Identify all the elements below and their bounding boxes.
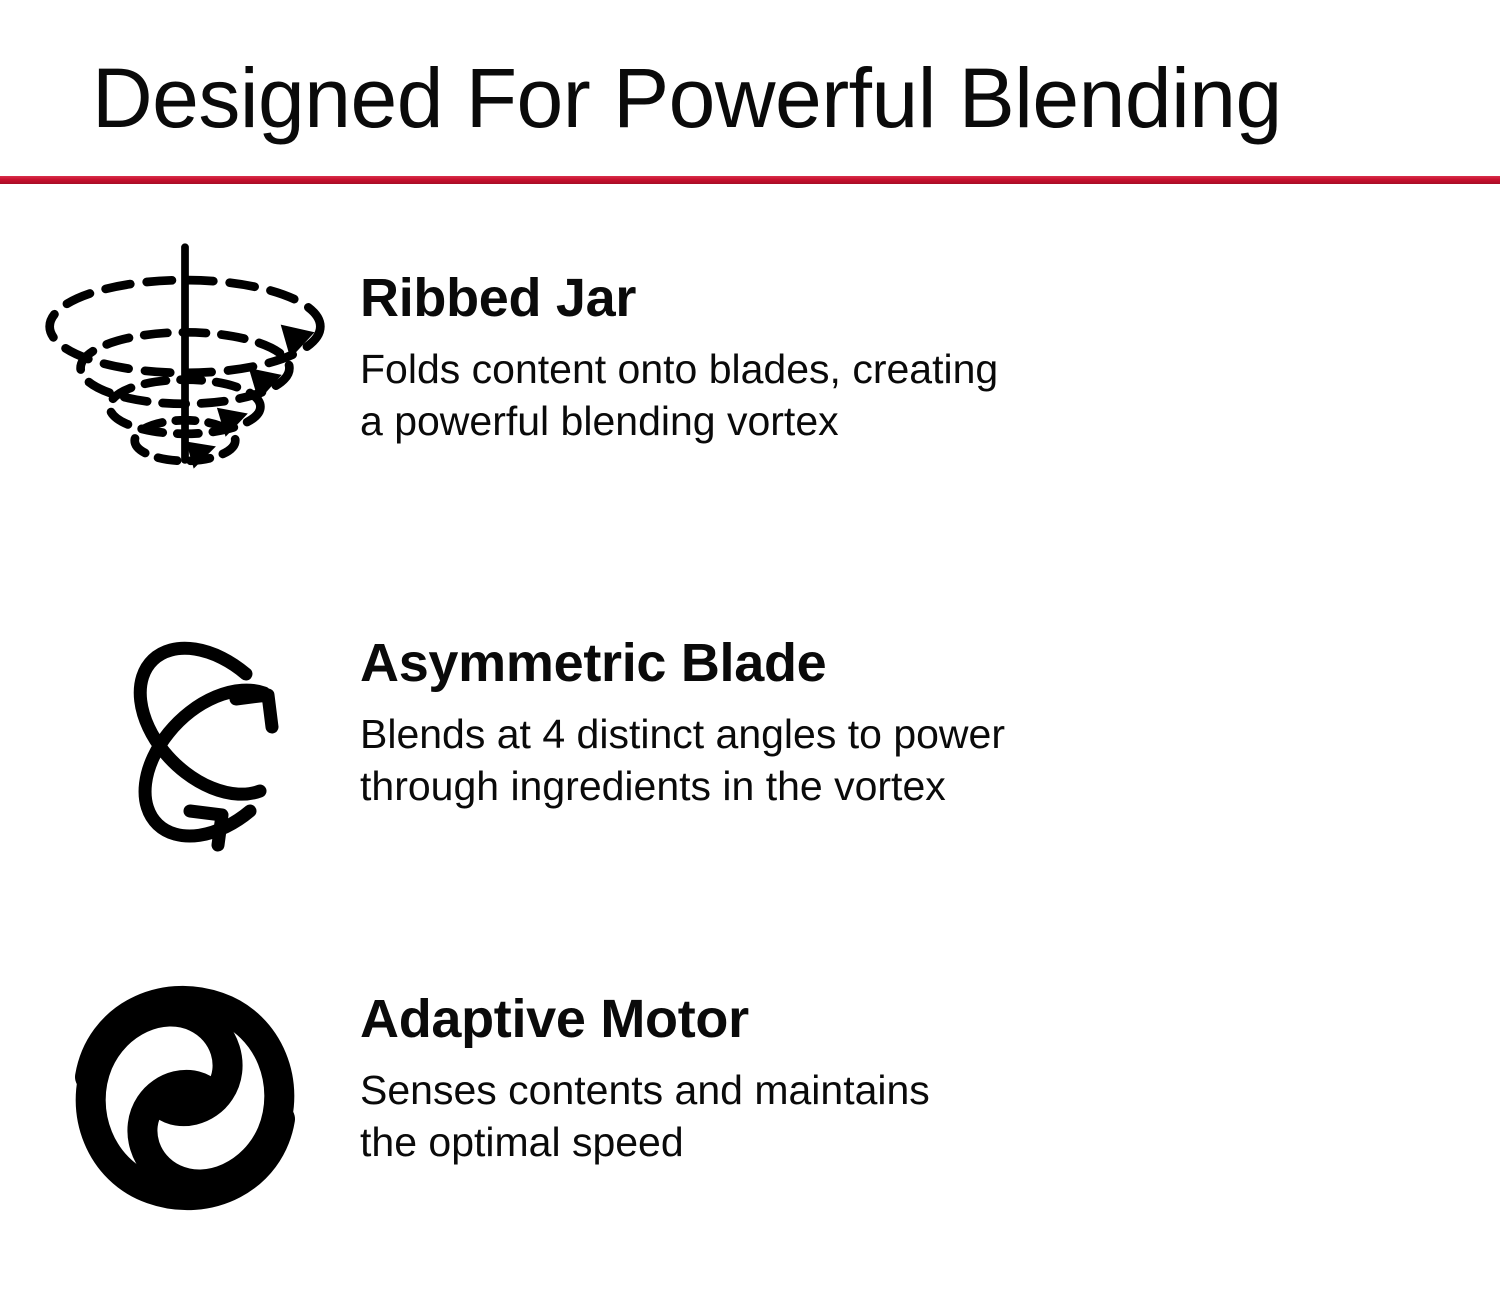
feature-description-line: a powerful blending vortex	[360, 395, 998, 447]
page-title: Designed For Powerful Blending	[92, 50, 1282, 147]
feature-description-line: Blends at 4 distinct angles to power	[360, 708, 1005, 760]
feature-description-line: through ingredients in the vortex	[360, 760, 1005, 812]
feature-icon-container	[0, 573, 330, 871]
feature-description-line: Senses contents and maintains	[360, 1064, 930, 1116]
feature-text-container: Adaptive Motor Senses contents and maint…	[330, 931, 930, 1169]
crossed-orbits-blade-icon	[50, 621, 320, 871]
vortex-funnel-icon	[40, 225, 330, 515]
feature-icon-container	[0, 215, 330, 515]
spiral-motor-icon	[50, 973, 320, 1223]
title-divider-rule	[0, 176, 1500, 184]
feature-row: Adaptive Motor Senses contents and maint…	[0, 931, 1500, 1289]
feature-list: Ribbed Jar Folds content onto blades, cr…	[0, 215, 1500, 1289]
feature-heading: Asymmetric Blade	[360, 635, 1005, 692]
feature-description: Folds content onto blades, creating a po…	[360, 343, 998, 448]
feature-description-line: Folds content onto blades, creating	[360, 343, 998, 395]
feature-description: Blends at 4 distinct angles to power thr…	[360, 708, 1005, 813]
feature-icon-container	[0, 931, 330, 1223]
feature-text-container: Ribbed Jar Folds content onto blades, cr…	[330, 215, 998, 448]
feature-heading: Ribbed Jar	[360, 270, 998, 327]
feature-description-line: the optimal speed	[360, 1116, 930, 1168]
feature-description: Senses contents and maintains the optima…	[360, 1064, 930, 1169]
feature-heading: Adaptive Motor	[360, 991, 930, 1048]
feature-row: Asymmetric Blade Blends at 4 distinct an…	[0, 573, 1500, 931]
feature-row: Ribbed Jar Folds content onto blades, cr…	[0, 215, 1500, 573]
feature-text-container: Asymmetric Blade Blends at 4 distinct an…	[330, 573, 1005, 813]
